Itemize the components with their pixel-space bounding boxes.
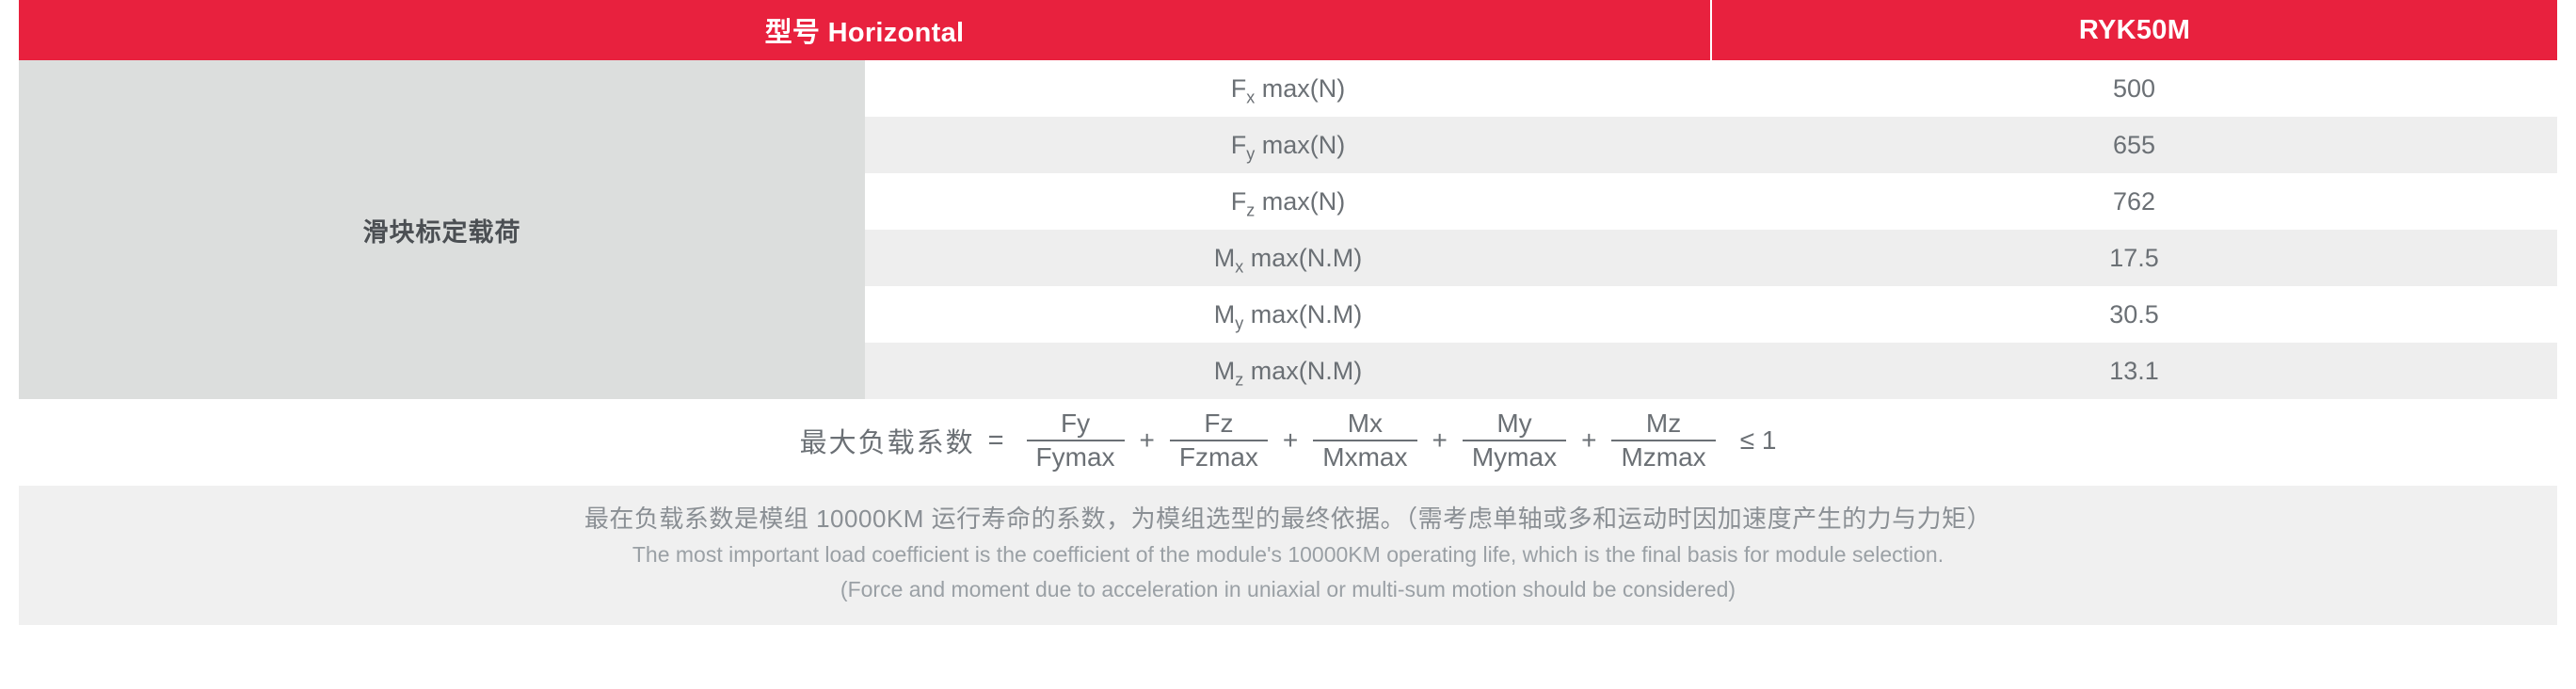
group-label-rated-load: 滑块标定载荷 [19, 60, 865, 399]
param-unit: max(N) [1255, 187, 1345, 216]
footnote-block: 最在负载系数是模组 10000KM 运行寿命的系数，为模组选型的最终依据。（需考… [19, 486, 2557, 625]
param-subscript: y [1235, 313, 1243, 332]
specification-table: 型号 Horizontal RYK50M 滑块标定载荷 Fx max(N) 50… [19, 0, 2557, 399]
fraction-denominator: Fzmax [1170, 441, 1268, 472]
fraction-denominator: Mzmax [1611, 441, 1715, 472]
table-row: 滑块标定载荷 Fx max(N) 500 [19, 60, 2557, 117]
table-header-row: 型号 Horizontal RYK50M [19, 0, 2557, 60]
fraction-fy: Fy Fymax [1027, 409, 1125, 472]
param-subscript: y [1246, 144, 1255, 163]
header-model-value: RYK50M [1711, 0, 2557, 60]
param-label: Fy max(N) [865, 117, 1711, 173]
fraction-denominator: Mymax [1463, 441, 1566, 472]
fraction-mz: Mz Mzmax [1611, 409, 1715, 472]
formula-plus-sign: + [1432, 425, 1448, 456]
load-coefficient-formula: 最大负载系数 = Fy Fymax + Fz Fzmax + Mx Mxmax … [19, 399, 2557, 486]
footnote-english-line2: (Force and moment due to acceleration in… [19, 574, 2557, 605]
fraction-numerator: Fy [1051, 409, 1099, 440]
param-value: 13.1 [1711, 343, 2557, 399]
spec-sheet: 型号 Horizontal RYK50M 滑块标定载荷 Fx max(N) 50… [0, 0, 2576, 689]
param-symbol: M [1214, 357, 1236, 385]
param-unit: max(N.M) [1243, 300, 1362, 328]
param-symbol: F [1231, 187, 1247, 216]
formula-plus-sign: + [1581, 425, 1596, 456]
param-label: Mx max(N.M) [865, 230, 1711, 286]
fraction-numerator: Fz [1194, 409, 1242, 440]
fraction-fz: Fz Fzmax [1170, 409, 1268, 472]
header-model-label: 型号 Horizontal [19, 0, 1711, 60]
fraction-numerator: Mz [1637, 409, 1690, 440]
param-symbol: M [1214, 244, 1236, 272]
param-unit: max(N.M) [1243, 357, 1362, 385]
param-subscript: x [1246, 88, 1255, 106]
param-symbol: F [1231, 74, 1247, 103]
param-subscript: z [1246, 200, 1255, 219]
param-value: 655 [1711, 117, 2557, 173]
param-value: 762 [1711, 173, 2557, 230]
param-subscript: z [1235, 370, 1243, 389]
fraction-numerator: Mx [1338, 409, 1392, 440]
param-value: 17.5 [1711, 230, 2557, 286]
param-unit: max(N.M) [1243, 244, 1362, 272]
formula-constraint: ≤ 1 [1740, 425, 1777, 456]
param-label: Fz max(N) [865, 173, 1711, 230]
footnote-english-line1: The most important load coefficient is t… [19, 539, 2557, 570]
fraction-numerator: My [1487, 409, 1541, 440]
formula-plus-sign: + [1283, 425, 1298, 456]
formula-equals-sign: = [988, 425, 1004, 457]
table-body: 型号 Horizontal RYK50M 滑块标定载荷 Fx max(N) 50… [19, 0, 2557, 399]
param-unit: max(N) [1255, 74, 1345, 103]
formula-expression: 最大负载系数 = Fy Fymax + Fz Fzmax + Mx Mxmax … [800, 409, 1777, 472]
param-symbol: M [1214, 300, 1236, 328]
param-label: Mz max(N.M) [865, 343, 1711, 399]
formula-lead-label: 最大负载系数 [800, 421, 975, 460]
param-symbol: F [1231, 131, 1247, 159]
param-unit: max(N) [1255, 131, 1345, 159]
param-value: 500 [1711, 60, 2557, 117]
param-value: 30.5 [1711, 286, 2557, 343]
fraction-mx: Mx Mxmax [1313, 409, 1416, 472]
footnote-chinese: 最在负载系数是模组 10000KM 运行寿命的系数，为模组选型的最终依据。（需考… [19, 503, 2557, 536]
fraction-denominator: Fymax [1027, 441, 1125, 472]
param-subscript: x [1235, 257, 1243, 276]
formula-plus-sign: + [1140, 425, 1155, 456]
param-label: My max(N.M) [865, 286, 1711, 343]
fraction-denominator: Mxmax [1313, 441, 1416, 472]
fraction-my: My Mymax [1463, 409, 1566, 472]
param-label: Fx max(N) [865, 60, 1711, 117]
